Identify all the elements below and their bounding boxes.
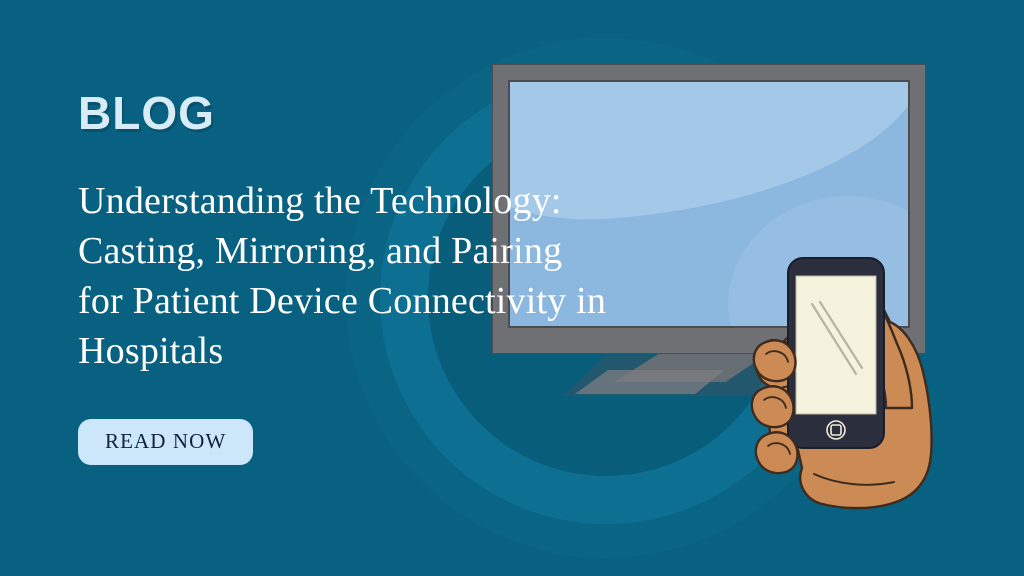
blog-kicker-label: BLOG (78, 90, 738, 136)
page-title: Understanding the Technology: Casting, M… (78, 176, 738, 377)
banner-text-column: BLOG Understanding the Technology: Casti… (78, 90, 738, 465)
headline-line-4: Hospitals (78, 326, 738, 376)
headline-line-2: Casting, Mirroring, and Pairing (78, 226, 738, 276)
read-now-button[interactable]: READ NOW (78, 419, 253, 465)
smartphone (788, 258, 884, 448)
headline-line-1: Understanding the Technology: (78, 176, 738, 226)
hand-holding-phone (744, 248, 974, 516)
headline-line-3: for Patient Device Connectivity in (78, 276, 738, 326)
blog-promo-banner: BLOG Understanding the Technology: Casti… (0, 0, 1024, 576)
